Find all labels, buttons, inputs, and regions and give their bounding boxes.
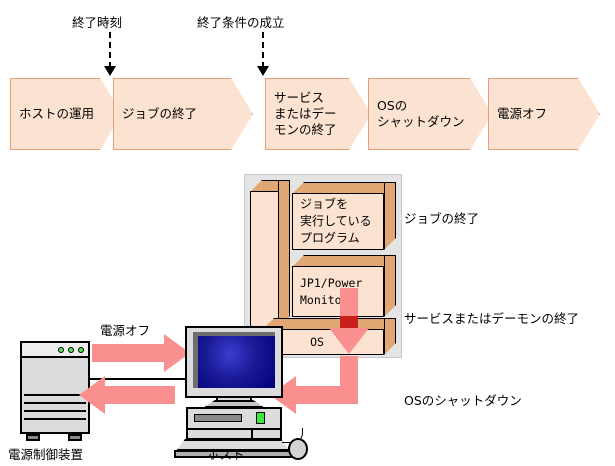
job-program-label: ジョブを 実行している プログラム (293, 196, 372, 247)
shutdown-arrow-head-down (329, 328, 369, 354)
host-optical-drive-slot (194, 414, 242, 422)
shutdown-arrow-horizontal (296, 386, 358, 404)
diagram-canvas: 終了時刻 終了条件の成立 ホストの運用 ジョブの終了 サービス またはデー モン… (0, 0, 615, 466)
flow-step-host-operation[interactable]: ホストの運用 (10, 78, 122, 150)
power-off-arrow-stem (92, 344, 164, 362)
callout-label-end-time: 終了時刻 (72, 12, 122, 31)
annotation-service-daemon-end: サービスまたはデーモンの終了 (404, 308, 579, 327)
annotation-power-off: 電源オフ (100, 320, 150, 339)
caption-host: ホスト (207, 444, 245, 463)
flow-step-service-daemon-end[interactable]: サービス またはデー モンの終了 (265, 78, 371, 150)
jp1-power-monitor-front-face: JP1/Power Monitor (292, 266, 384, 317)
annotation-job-end: ジョブの終了 (404, 208, 479, 227)
host-mouse (288, 438, 308, 460)
flow-step-job-end[interactable]: ジョブの終了 (113, 78, 253, 150)
flow-step-host-operation-label: ホストの運用 (11, 106, 94, 122)
flow-step-os-shutdown-label: OSの シャットダウン (369, 98, 465, 130)
power-control-device-vent-4 (24, 418, 86, 420)
os-container-right-face (278, 180, 290, 328)
power-control-device-vent-2 (24, 402, 86, 404)
annotation-os-shutdown: OSのシャットダウン (404, 390, 522, 409)
host-case-divider-horizontal (188, 428, 280, 430)
power-control-device-vent-3 (24, 410, 86, 412)
power-control-device-foot-right (68, 434, 82, 441)
callout-arrow-head-end-time (104, 66, 116, 76)
callout-dash-line-end-time (109, 32, 111, 68)
flow-step-power-off-label: 電源オフ (489, 106, 547, 122)
flow-step-power-off[interactable]: 電源オフ (488, 78, 600, 150)
callout-label-end-condition: 終了条件の成立 (197, 12, 285, 31)
power-led-1-icon (58, 347, 64, 353)
return-arrow-stem (105, 386, 175, 404)
power-led-3-icon (78, 347, 84, 353)
shutdown-arrow-stem-upper (340, 288, 358, 316)
return-arrow-head (79, 376, 105, 414)
host-desktop-case (186, 407, 282, 440)
os-layer-label: OS (310, 335, 324, 350)
power-control-device-foot-left (26, 434, 40, 441)
host-monitor-screen (198, 336, 275, 388)
host-case-divider-vertical (251, 428, 253, 439)
power-led-2-icon (68, 347, 74, 353)
flow-step-service-daemon-end-label: サービス またはデー モンの終了 (266, 90, 337, 138)
os-container-front-face (250, 191, 279, 339)
callout-arrow-head-end-condition (257, 66, 269, 76)
power-control-device-vent-1 (24, 394, 86, 396)
flow-step-os-shutdown[interactable]: OSの シャットダウン (368, 78, 492, 150)
caption-power-control-device: 電源制御装置 (8, 444, 83, 463)
job-program-front-face: ジョブを 実行している プログラム (292, 193, 384, 250)
flow-step-job-end-label: ジョブの終了 (114, 106, 197, 122)
host-power-led-icon (256, 412, 265, 424)
callout-dash-line-end-condition (262, 32, 264, 68)
